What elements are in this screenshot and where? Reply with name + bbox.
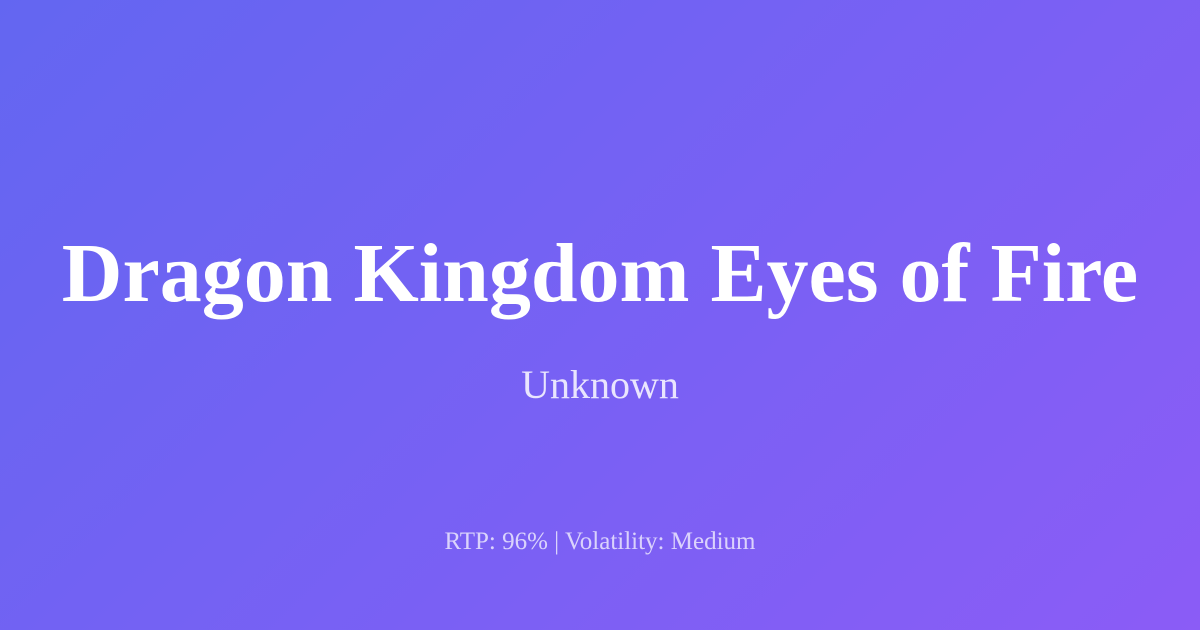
page-title: Dragon Kingdom Eyes of Fire: [62, 232, 1138, 316]
title-container: Dragon Kingdom Eyes of Fire: [0, 232, 1200, 316]
game-provider-label: Unknown: [0, 362, 1200, 408]
og-preview-card: Dragon Kingdom Eyes of Fire Unknown RTP:…: [0, 0, 1200, 630]
game-stats-line: RTP: 96% | Volatility: Medium: [0, 527, 1200, 557]
